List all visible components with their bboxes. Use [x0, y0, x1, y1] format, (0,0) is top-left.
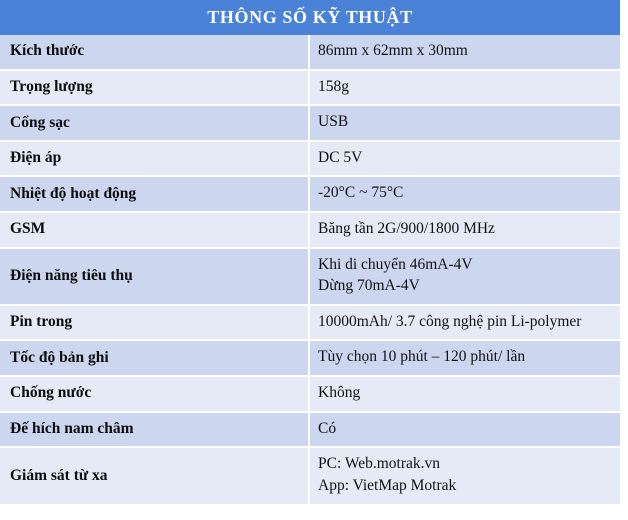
- spec-label: GSM: [0, 213, 310, 249]
- spec-value: Có: [310, 413, 620, 449]
- spec-value-line: Dừng 70mA-4V: [318, 276, 620, 297]
- spec-value-line: App: VietMap Motrak: [318, 476, 620, 497]
- table-row: GSMBăng tần 2G/900/1800 MHz: [0, 213, 620, 249]
- spec-label: Nhiệt độ hoạt động: [0, 177, 310, 213]
- spec-value: 86mm x 62mm x 30mm: [310, 35, 620, 71]
- table-row: Chống nướcKhông: [0, 377, 620, 413]
- table-title: THÔNG SỐ KỸ THUẬT: [0, 0, 620, 35]
- spec-value: 158g: [310, 71, 620, 107]
- table-body: Kích thước86mm x 62mm x 30mmTrọng lượng1…: [0, 35, 620, 504]
- table-row: Tốc độ bản ghiTùy chọn 10 phút – 120 phú…: [0, 341, 620, 377]
- spec-value-line: 10000mAh/ 3.7 công nghệ pin Li-polymer: [318, 312, 620, 333]
- spec-value-line: Khi di chuyển 46mA-4V: [318, 255, 620, 276]
- spec-value: 10000mAh/ 3.7 công nghệ pin Li-polymer: [310, 306, 620, 342]
- specifications-table: THÔNG SỐ KỸ THUẬT Kích thước86mm x 62mm …: [0, 0, 620, 504]
- spec-label: Giám sát từ xa: [0, 448, 310, 503]
- spec-value-line: 158g: [318, 77, 620, 98]
- table-row: Pin trong10000mAh/ 3.7 công nghệ pin Li-…: [0, 306, 620, 342]
- table-row: Điện năng tiêu thụKhi di chuyển 46mA-4VD…: [0, 249, 620, 306]
- spec-value: PC: Web.motrak.vnApp: VietMap Motrak: [310, 448, 620, 503]
- spec-value: Tùy chọn 10 phút – 120 phút/ lần: [310, 341, 620, 377]
- table-row: Trọng lượng158g: [0, 71, 620, 107]
- spec-value: Khi di chuyển 46mA-4VDừng 70mA-4V: [310, 249, 620, 306]
- spec-value-line: Băng tần 2G/900/1800 MHz: [318, 219, 620, 240]
- spec-label: Điện áp: [0, 142, 310, 178]
- spec-label: Chống nước: [0, 377, 310, 413]
- spec-value: USB: [310, 106, 620, 142]
- table-header: THÔNG SỐ KỸ THUẬT: [0, 0, 620, 35]
- spec-label: Cổng sạc: [0, 106, 310, 142]
- spec-value-line: DC 5V: [318, 148, 620, 169]
- spec-value-line: Tùy chọn 10 phút – 120 phút/ lần: [318, 347, 620, 368]
- spec-value-line: USB: [318, 112, 620, 133]
- table-row: Kích thước86mm x 62mm x 30mm: [0, 35, 620, 71]
- bottom-spacer: [0, 504, 628, 512]
- spec-value: Không: [310, 377, 620, 413]
- spec-value-line: Có: [318, 419, 620, 440]
- spec-label: Kích thước: [0, 35, 310, 71]
- spec-value: Băng tần 2G/900/1800 MHz: [310, 213, 620, 249]
- spec-value-line: PC: Web.motrak.vn: [318, 454, 620, 475]
- table-row: Điện ápDC 5V: [0, 142, 620, 178]
- spec-label: Đế hích nam châm: [0, 413, 310, 449]
- spec-value-line: Không: [318, 383, 620, 404]
- spec-label: Trọng lượng: [0, 71, 310, 107]
- spec-value-line: -20°C ~ 75°C: [318, 183, 620, 204]
- table-row: Cổng sạcUSB: [0, 106, 620, 142]
- spec-label: Pin trong: [0, 306, 310, 342]
- spec-label: Điện năng tiêu thụ: [0, 249, 310, 306]
- spec-value: -20°C ~ 75°C: [310, 177, 620, 213]
- table-header-row: THÔNG SỐ KỸ THUẬT: [0, 0, 620, 35]
- table-row: Nhiệt độ hoạt động-20°C ~ 75°C: [0, 177, 620, 213]
- spec-value: DC 5V: [310, 142, 620, 178]
- table-row: Đế hích nam châmCó: [0, 413, 620, 449]
- table-row: Giám sát từ xaPC: Web.motrak.vnApp: Viet…: [0, 448, 620, 503]
- spec-value-line: 86mm x 62mm x 30mm: [318, 41, 620, 62]
- spec-label: Tốc độ bản ghi: [0, 341, 310, 377]
